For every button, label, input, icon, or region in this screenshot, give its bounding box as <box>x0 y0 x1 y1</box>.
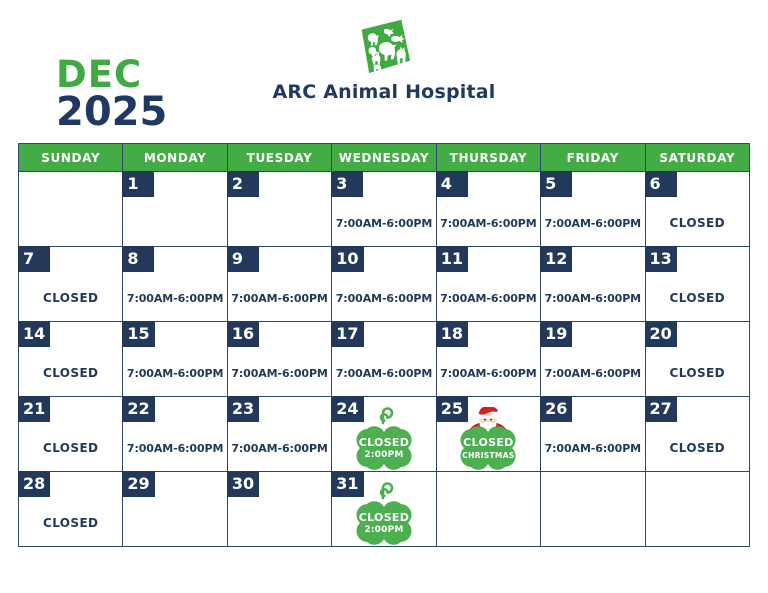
day-number-badge: 22 <box>122 396 154 422</box>
hours-label: 7:00AM-6:00PM <box>228 442 331 455</box>
calendar-day-cell[interactable]: 57:00AM-6:00PM <box>541 172 645 247</box>
weekday-header-wednesday: WEDNESDAY <box>332 144 436 172</box>
day-number-badge: 12 <box>540 246 572 272</box>
hours-label: 7:00AM-6:00PM <box>541 442 644 455</box>
closed-label: CLOSED <box>646 366 749 380</box>
calendar-day-cell[interactable]: 177:00AM-6:00PM <box>332 322 436 397</box>
weekday-header-monday: MONDAY <box>123 144 227 172</box>
day-number-badge: 16 <box>227 321 259 347</box>
calendar-day-cell[interactable]: 87:00AM-6:00PM <box>123 247 227 322</box>
closed-label: CLOSED <box>19 366 122 380</box>
day-number-badge: 14 <box>18 321 50 347</box>
hours-label: 7:00AM-6:00PM <box>332 367 435 380</box>
day-number-badge: 18 <box>436 321 468 347</box>
hours-label: 7:00AM-6:00PM <box>123 292 226 305</box>
hours-label: 7:00AM-6:00PM <box>332 217 435 230</box>
day-number-badge: 21 <box>18 396 50 422</box>
calendar-body: 1237:00AM-6:00PM47:00AM-6:00PM57:00AM-6:… <box>19 172 750 547</box>
calendar-day-cell[interactable]: 21CLOSED <box>19 397 123 472</box>
santa-bone-tag-icon: CLOSEDCHRISTMAS <box>450 407 526 471</box>
hours-label: 7:00AM-6:00PM <box>437 292 540 305</box>
calendar-day-cell[interactable]: 37:00AM-6:00PM <box>332 172 436 247</box>
weekday-header-thursday: THURSDAY <box>436 144 540 172</box>
day-number-badge: 19 <box>540 321 572 347</box>
calendar-day-cell[interactable]: 47:00AM-6:00PM <box>436 172 540 247</box>
brand-name: ARC Animal Hospital <box>0 81 768 103</box>
calendar-cell-empty <box>541 472 645 547</box>
hours-label: 7:00AM-6:00PM <box>123 442 226 455</box>
calendar-day-cell[interactable]: 107:00AM-6:00PM <box>332 247 436 322</box>
day-number-badge: 6 <box>645 171 677 197</box>
weekday-header-saturday: SATURDAY <box>645 144 749 172</box>
day-number-badge: 11 <box>436 246 468 272</box>
calendar-week-row: 21CLOSED227:00AM-6:00PM237:00AM-6:00PM24… <box>19 397 750 472</box>
brand-block: ARC Animal Hospital <box>0 16 768 103</box>
calendar-grid: SUNDAY MONDAY TUESDAY WEDNESDAY THURSDAY… <box>18 143 750 547</box>
calendar-day-cell[interactable]: 24CLOSED2:00PM <box>332 397 436 472</box>
weekday-header-tuesday: TUESDAY <box>227 144 331 172</box>
weekday-header-sunday: SUNDAY <box>19 144 123 172</box>
day-number-badge: 7 <box>18 246 50 272</box>
calendar-day-cell[interactable]: 28CLOSED <box>19 472 123 547</box>
calendar-day-cell[interactable]: 6CLOSED <box>645 172 749 247</box>
day-number-badge: 1 <box>122 171 154 197</box>
hours-label: 7:00AM-6:00PM <box>541 292 644 305</box>
day-number-badge: 28 <box>18 471 50 497</box>
bone-tag-badge: CLOSED2:00PM <box>332 476 435 546</box>
closed-label: CLOSED <box>19 441 122 455</box>
day-number-badge: 3 <box>331 171 363 197</box>
day-number-badge: 8 <box>122 246 154 272</box>
calendar-day-cell[interactable]: 2 <box>227 172 331 247</box>
calendar-day-cell[interactable]: 117:00AM-6:00PM <box>436 247 540 322</box>
calendar-day-cell[interactable]: 25CLOSEDCHRISTMAS <box>436 397 540 472</box>
hours-label: 7:00AM-6:00PM <box>541 367 644 380</box>
calendar-day-cell[interactable]: 14CLOSED <box>19 322 123 397</box>
calendar-week-row: 14CLOSED157:00AM-6:00PM167:00AM-6:00PM17… <box>19 322 750 397</box>
calendar-day-cell[interactable]: 30 <box>227 472 331 547</box>
calendar-week-row: 7CLOSED87:00AM-6:00PM97:00AM-6:00PM107:0… <box>19 247 750 322</box>
closed-label: CLOSED <box>646 441 749 455</box>
weekday-header-row: SUNDAY MONDAY TUESDAY WEDNESDAY THURSDAY… <box>19 144 750 172</box>
day-number-badge: 13 <box>645 246 677 272</box>
calendar-day-cell[interactable]: 7CLOSED <box>19 247 123 322</box>
day-number-badge: 2 <box>227 171 259 197</box>
calendar-day-cell[interactable]: 27CLOSED <box>645 397 749 472</box>
calendar-day-cell[interactable]: 197:00AM-6:00PM <box>541 322 645 397</box>
hours-label: 7:00AM-6:00PM <box>332 292 435 305</box>
day-number-badge: 27 <box>645 396 677 422</box>
day-number-badge: 17 <box>331 321 363 347</box>
closed-label: CLOSED <box>19 291 122 305</box>
hours-label: 7:00AM-6:00PM <box>228 292 331 305</box>
animal-silhouettes-logo-icon <box>353 16 415 78</box>
calendar-day-cell[interactable]: 167:00AM-6:00PM <box>227 322 331 397</box>
calendar-cell-empty <box>436 472 540 547</box>
weekday-header-friday: FRIDAY <box>541 144 645 172</box>
calendar-day-cell[interactable]: 157:00AM-6:00PM <box>123 322 227 397</box>
calendar-week-row: 28CLOSED293031CLOSED2:00PM <box>19 472 750 547</box>
calendar-day-cell[interactable]: 127:00AM-6:00PM <box>541 247 645 322</box>
day-number-badge: 10 <box>331 246 363 272</box>
day-number-badge: 4 <box>436 171 468 197</box>
page-header: DEC 2025 A <box>0 0 768 143</box>
calendar-day-cell[interactable]: 227:00AM-6:00PM <box>123 397 227 472</box>
hours-label: 7:00AM-6:00PM <box>437 367 540 380</box>
calendar-day-cell[interactable]: 31CLOSED2:00PM <box>332 472 436 547</box>
day-number-badge: 29 <box>122 471 154 497</box>
day-number-badge: 5 <box>540 171 572 197</box>
calendar-day-cell[interactable]: 97:00AM-6:00PM <box>227 247 331 322</box>
calendar-cell-empty <box>645 472 749 547</box>
day-number-badge: 23 <box>227 396 259 422</box>
hours-label: 7:00AM-6:00PM <box>123 367 226 380</box>
calendar-cell-empty <box>19 172 123 247</box>
bone-tag-icon: CLOSED2:00PM <box>346 482 422 546</box>
closed-label: CLOSED <box>646 216 749 230</box>
calendar-week-row: 1237:00AM-6:00PM47:00AM-6:00PM57:00AM-6:… <box>19 172 750 247</box>
calendar-day-cell[interactable]: 13CLOSED <box>645 247 749 322</box>
closed-label: CLOSED <box>19 516 122 530</box>
day-number-badge: 20 <box>645 321 677 347</box>
closed-label: CLOSED <box>646 291 749 305</box>
calendar-day-cell[interactable]: 29 <box>123 472 227 547</box>
day-number-badge: 26 <box>540 396 572 422</box>
bone-tag-badge: CLOSED2:00PM <box>332 401 435 471</box>
day-number-badge: 9 <box>227 246 259 272</box>
santa-bone-tag-badge: CLOSEDCHRISTMAS <box>437 401 540 471</box>
hours-label: 7:00AM-6:00PM <box>541 217 644 230</box>
hours-label: 7:00AM-6:00PM <box>437 217 540 230</box>
calendar-day-cell[interactable]: 20CLOSED <box>645 322 749 397</box>
calendar-day-cell[interactable]: 237:00AM-6:00PM <box>227 397 331 472</box>
calendar-day-cell[interactable]: 187:00AM-6:00PM <box>436 322 540 397</box>
day-number-badge: 15 <box>122 321 154 347</box>
calendar-day-cell[interactable]: 267:00AM-6:00PM <box>541 397 645 472</box>
day-number-badge: 30 <box>227 471 259 497</box>
bone-tag-icon: CLOSED2:00PM <box>346 407 422 471</box>
hours-label: 7:00AM-6:00PM <box>228 367 331 380</box>
calendar-day-cell[interactable]: 1 <box>123 172 227 247</box>
